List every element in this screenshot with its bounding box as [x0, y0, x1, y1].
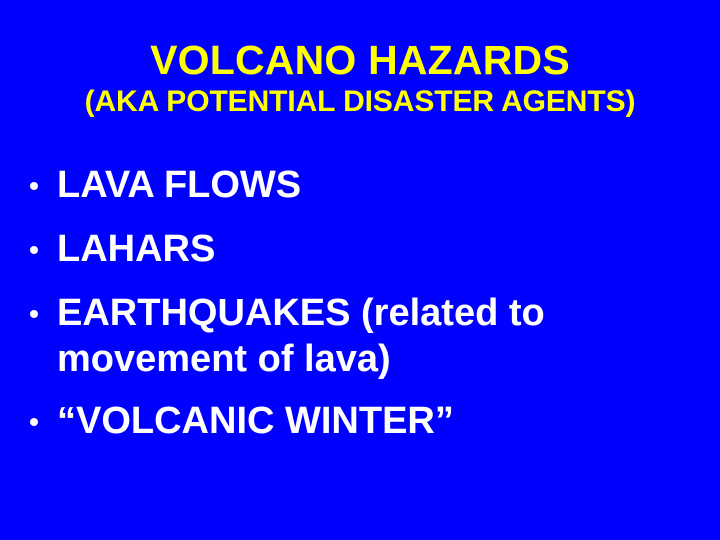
bullet-point-icon	[30, 310, 38, 318]
list-item-label: LAVA FLOWS	[57, 162, 628, 208]
bullet-point-icon	[30, 182, 38, 190]
list-item-label: “VOLCANIC WINTER”	[57, 398, 628, 444]
title-block: VOLCANO HAZARDS (AKA POTENTIAL DISASTER …	[0, 38, 720, 119]
list-item: “VOLCANIC WINTER”	[28, 398, 628, 444]
bullet-point-icon	[30, 418, 38, 426]
slide-canvas: VOLCANO HAZARDS (AKA POTENTIAL DISASTER …	[0, 0, 720, 540]
bullet-list: LAVA FLOWS LAHARS EARTHQUAKES (related t…	[28, 162, 628, 444]
list-item: EARTHQUAKES (related to movement of lava…	[28, 290, 628, 382]
list-item-label: LAHARS	[57, 226, 628, 272]
list-item: LAHARS	[28, 226, 628, 272]
page-title: VOLCANO HAZARDS	[0, 38, 720, 82]
bullet-point-icon	[30, 246, 38, 254]
page-subtitle: (AKA POTENTIAL DISASTER AGENTS)	[0, 85, 720, 119]
list-item: LAVA FLOWS	[28, 162, 628, 208]
list-item-label: EARTHQUAKES (related to movement of lava…	[57, 290, 628, 382]
